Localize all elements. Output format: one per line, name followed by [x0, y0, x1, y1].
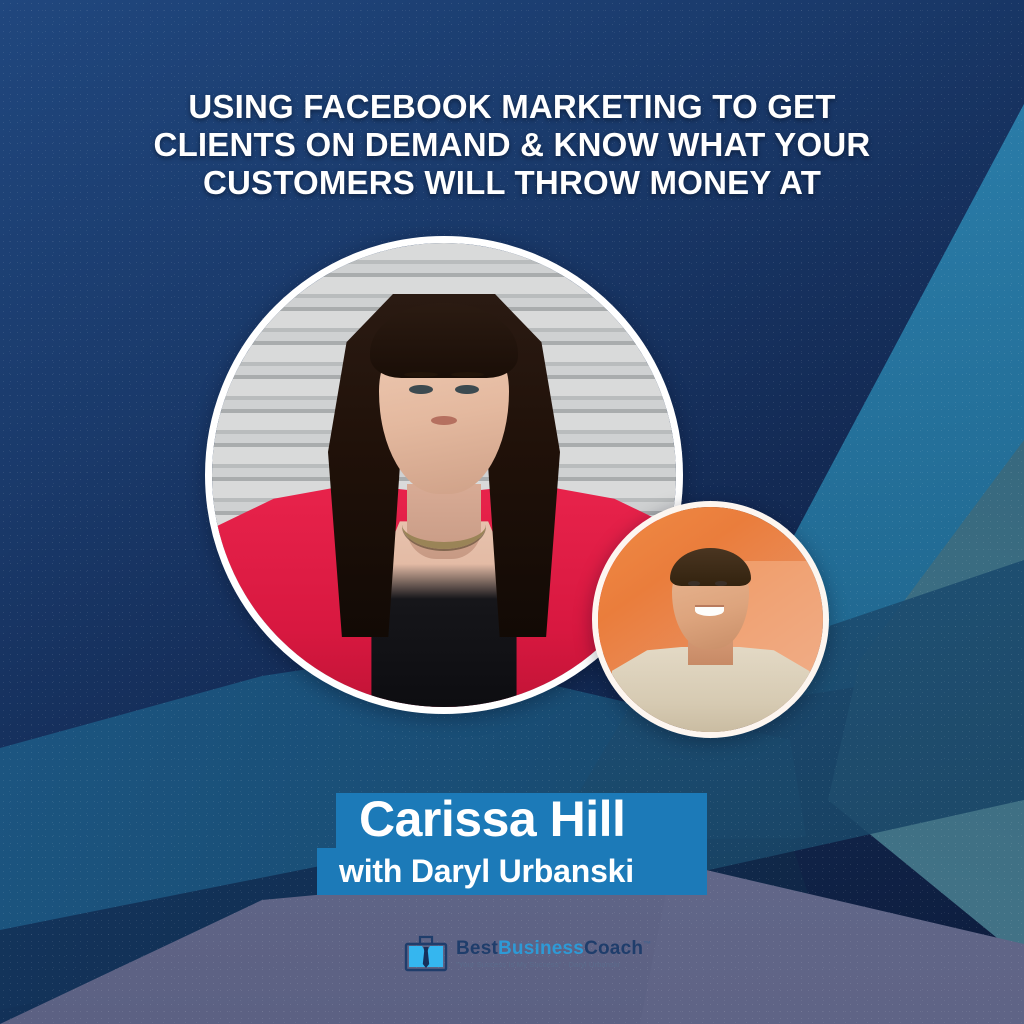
logo-word-coach: Coach	[584, 938, 643, 959]
brand-logo: BestBusinessCoach™ "Your Success Is My S…	[404, 931, 634, 977]
speaker-name-banner: Carissa Hill with Daryl Urbanski	[317, 793, 707, 895]
logo-text: BestBusinessCoach™ "Your Success Is My S…	[456, 939, 651, 969]
guest-eyebrow-right	[451, 372, 484, 377]
host-eye-right	[715, 581, 727, 586]
logo-word-best: Best	[456, 938, 498, 959]
host-smile	[695, 605, 724, 616]
trademark-symbol: ™	[643, 940, 651, 949]
guest-eyebrow-left	[404, 372, 437, 377]
title-line-2: CLIENTS ON DEMAND & KNOW WHAT YOUR	[62, 126, 962, 164]
guest-name-text: Carissa Hill	[359, 791, 625, 847]
title-line-1: USING FACEBOOK MARKETING TO GET	[62, 88, 962, 126]
host-portrait	[592, 501, 829, 738]
host-name-text: with Daryl Urbanski	[339, 847, 634, 895]
logo-wordmark: BestBusinessCoach™	[456, 939, 651, 958]
briefcase-icon	[404, 935, 448, 973]
episode-title: USING FACEBOOK MARKETING TO GET CLIENTS …	[62, 88, 962, 202]
guest-lips	[431, 416, 457, 425]
guest-necklace	[402, 501, 486, 550]
promo-card: USING FACEBOOK MARKETING TO GET CLIENTS …	[0, 0, 1024, 1024]
host-eye-left	[688, 581, 700, 586]
logo-tagline: "Your Success Is My Success" - Daryl Urb…	[456, 961, 651, 969]
title-line-3: CUSTOMERS WILL THROW MONEY AT	[62, 164, 962, 202]
logo-word-business: Business	[498, 938, 584, 959]
